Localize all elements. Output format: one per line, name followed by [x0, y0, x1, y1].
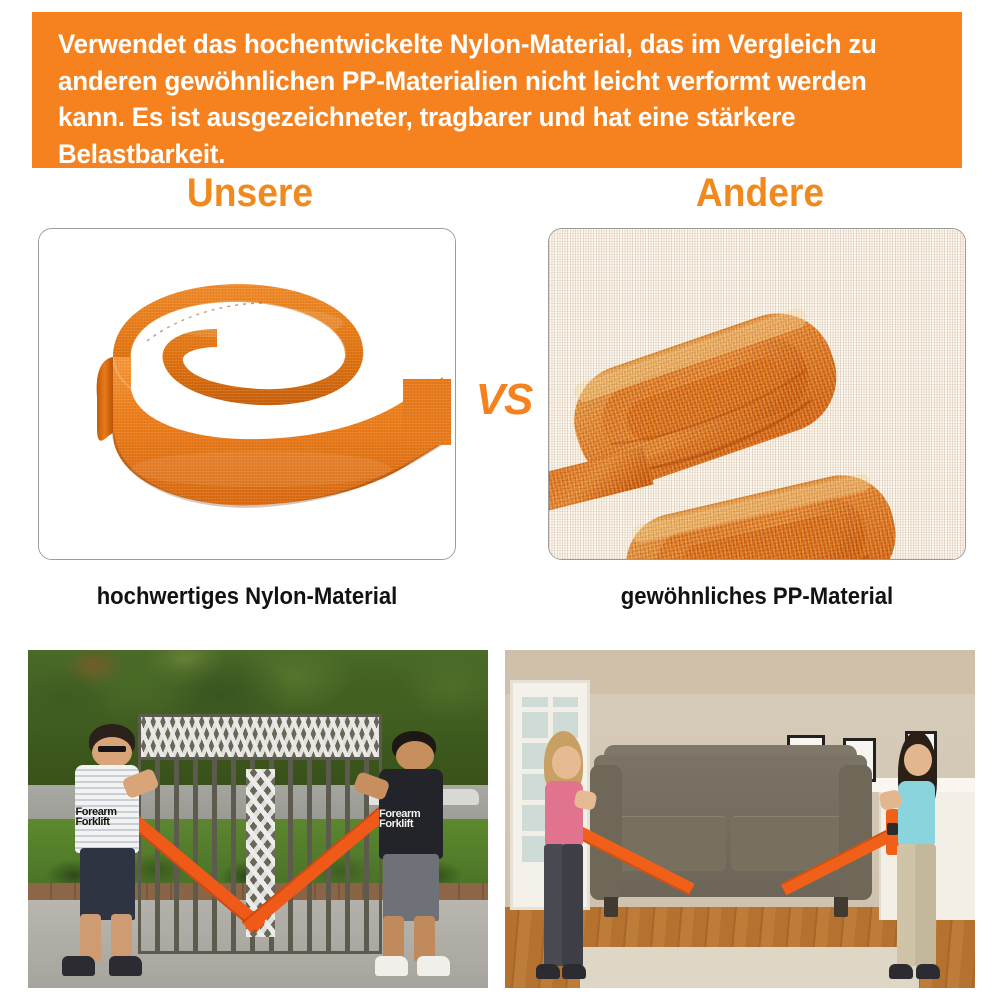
pp-webbing-illustration: [549, 229, 965, 559]
shoe: [916, 964, 940, 979]
shoe: [375, 956, 408, 976]
headline-text: Verwendet das hochentwickelte Nylon-Mate…: [58, 26, 901, 173]
person-right-mover: Forearm Forklift: [359, 731, 469, 981]
lower-leg: [80, 914, 101, 960]
product-frame-ours: [38, 228, 456, 560]
head: [552, 746, 580, 779]
headline-banner: Verwendet das hochentwickelte Nylon-Mate…: [32, 12, 962, 168]
photo-two-women-carrying-sofa: [505, 650, 975, 988]
caption-pp: gewöhnliches PP-Material: [565, 584, 950, 610]
product-frame-others: [548, 228, 966, 560]
heading-others: Andere: [648, 173, 871, 213]
head: [904, 744, 932, 777]
lower-leg: [111, 914, 132, 960]
outdoor-scene: Forearm Forklift Forearm Forklift: [28, 650, 488, 988]
product-image-nylon-strap: [39, 229, 455, 559]
shoe: [536, 964, 560, 979]
lower-leg: [414, 916, 435, 961]
nylon-strap-illustration: [51, 237, 451, 553]
shirt-logo-left: Forearm Forklift: [75, 807, 116, 829]
sofa-arm: [839, 765, 872, 900]
legs-trousers: [915, 844, 936, 967]
vs-badge: VS: [468, 378, 540, 422]
person-left-mover: Forearm Forklift: [56, 724, 166, 981]
photo-two-men-carrying-gate: Forearm Forklift Forearm Forklift: [28, 650, 488, 988]
sofa-leg: [834, 897, 848, 917]
shirt-logo-line-2: Forklift: [379, 818, 413, 830]
shoe: [562, 964, 586, 979]
heading-ours: Unsere: [138, 173, 361, 213]
head: [396, 741, 435, 771]
legs-shorts: [80, 848, 135, 920]
shoe: [417, 956, 450, 976]
area-rug: [580, 947, 918, 988]
gate-scrollwork-panel: [141, 717, 379, 760]
legs-trousers: [562, 844, 583, 967]
torso-blue-top: [898, 781, 935, 846]
head: [92, 737, 132, 768]
person-right-woman: [881, 731, 952, 981]
sofa-cushion: [604, 816, 726, 871]
shoe: [889, 964, 913, 979]
shoe: [62, 956, 95, 977]
product-image-pp-webbing: [549, 229, 965, 559]
caption-nylon: hochwertiges Nylon-Material: [55, 584, 440, 610]
shirt-logo-line-2: Forklift: [75, 816, 109, 828]
shoe: [109, 956, 142, 977]
sunglasses: [98, 746, 127, 752]
lower-leg: [383, 916, 404, 961]
sofa-leg: [604, 897, 618, 917]
shirt-logo-right: Forearm Forklift: [379, 809, 420, 831]
person-left-woman: [529, 731, 600, 981]
living-room-scene: [505, 650, 975, 988]
legs-shorts: [383, 854, 438, 922]
